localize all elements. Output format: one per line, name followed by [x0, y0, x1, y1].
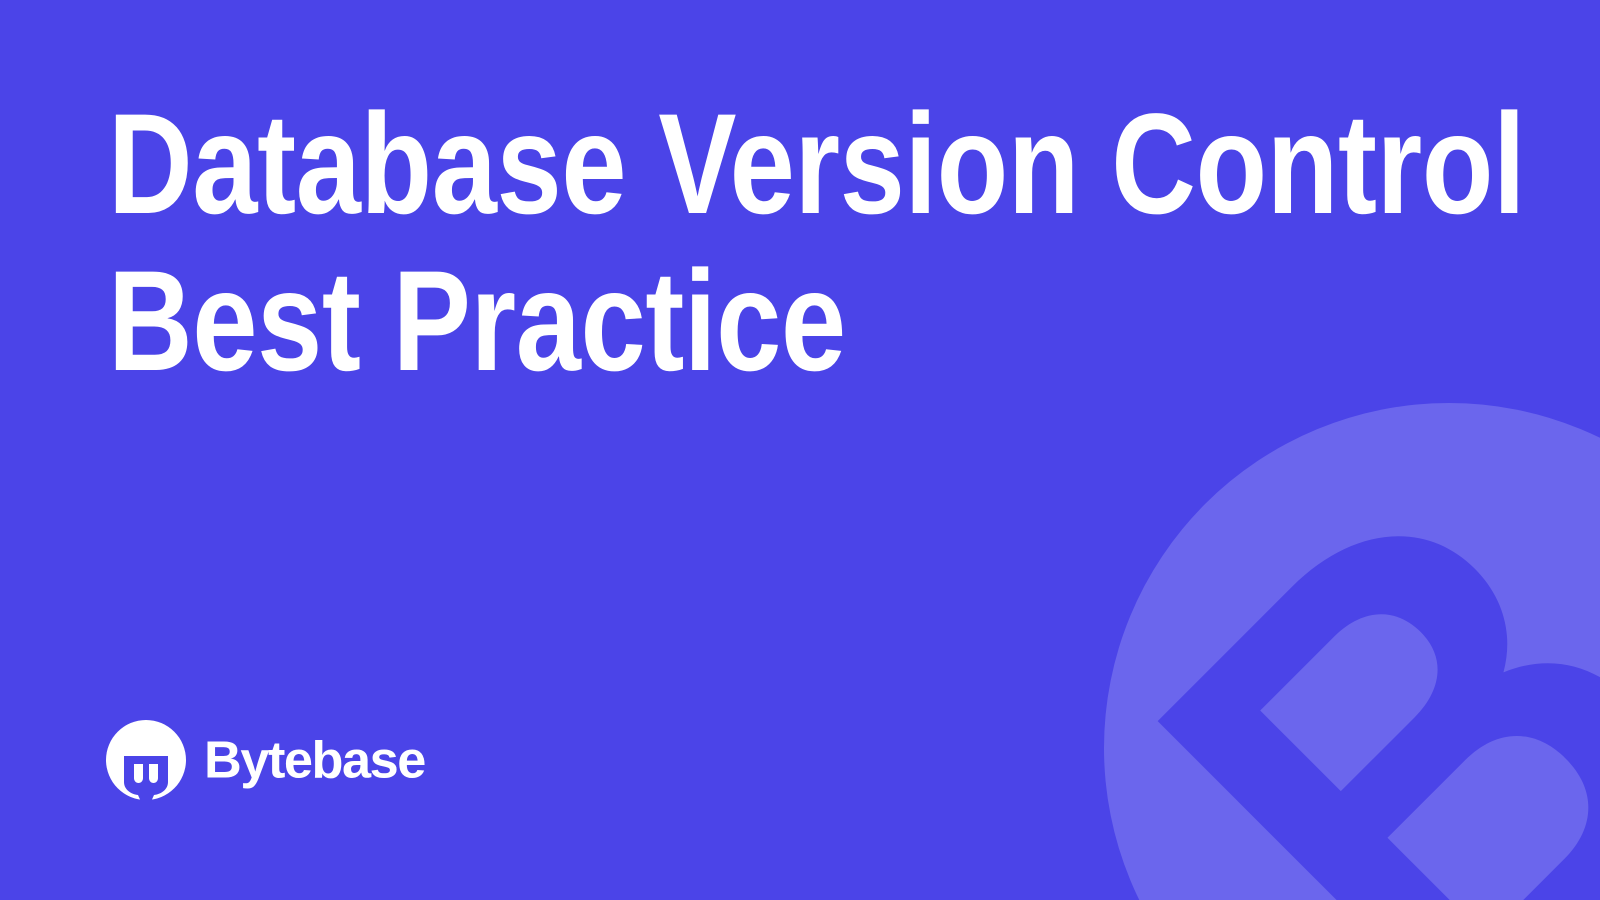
cover-canvas: Database Version Control Best Practice	[0, 0, 1600, 900]
title-line-2: Best Practice	[108, 243, 1256, 400]
watermark-circle	[1104, 403, 1600, 900]
bytebase-wordmark: Bytebase	[204, 732, 491, 794]
bytebase-wordmark-text: Bytebase	[204, 732, 425, 790]
page-title: Database Version Control Best Practice	[108, 86, 1508, 400]
title-line-1: Database Version Control	[108, 86, 1256, 243]
brand-logo-lockup: Bytebase	[104, 718, 491, 808]
watermark-b-monogram-icon	[1158, 475, 1600, 900]
bytebase-speech-bubble-icon	[104, 718, 188, 808]
